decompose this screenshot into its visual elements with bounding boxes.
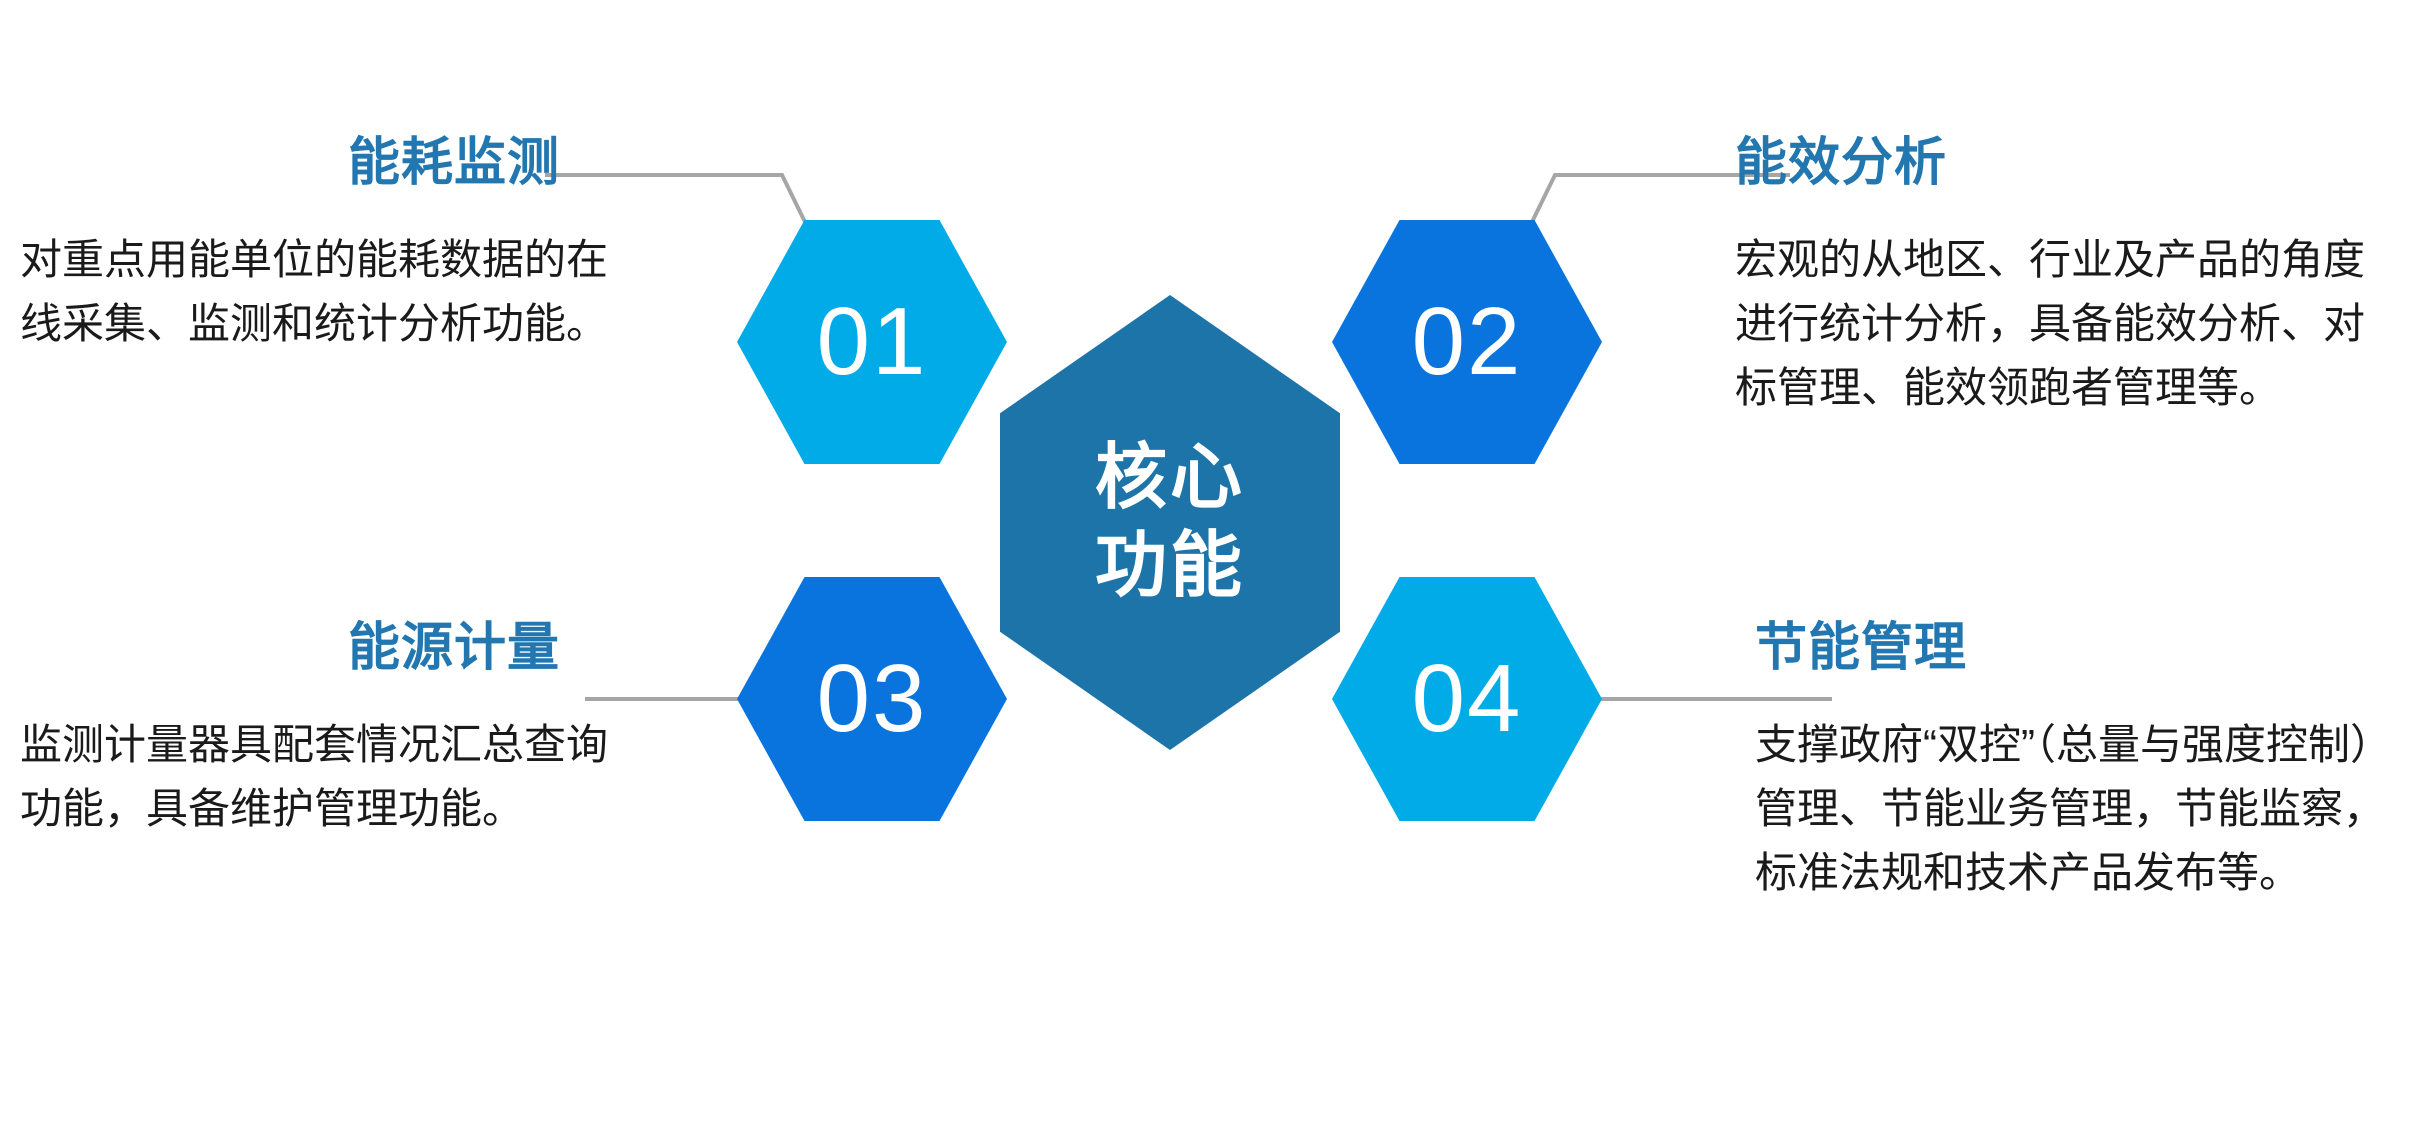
block-title-03: 能源计量 — [20, 620, 660, 677]
text-block-02: 能效分析 宏观的从地区、行业及产品的角度进行统计分析，具备能效分析、对标管理、能… — [1735, 135, 2395, 420]
hexagon-01[interactable]: 01 — [737, 220, 1007, 464]
block-body-03: 监测计量器具配套情况汇总查询功能，具备维护管理功能。 — [20, 713, 640, 841]
hexagon-02[interactable]: 02 — [1332, 220, 1602, 464]
block-body-01: 对重点用能单位的能耗数据的在线采集、监测和统计分析功能。 — [20, 228, 640, 356]
hexagon-04[interactable]: 04 — [1332, 577, 1602, 821]
block-body-02: 宏观的从地区、行业及产品的角度进行统计分析，具备能效分析、对标管理、能效领跑者管… — [1735, 228, 2385, 419]
hexagon-number-04: 04 — [1412, 651, 1523, 747]
center-label-line1: 核心 — [1095, 435, 1245, 523]
text-block-03: 能源计量 监测计量器具配套情况汇总查询功能，具备维护管理功能。 — [20, 620, 660, 841]
hexagon-number-02: 02 — [1412, 294, 1523, 390]
block-title-01: 能耗监测 — [20, 135, 660, 192]
infographic-canvas: 01 02 03 04 核心 功能 能耗监测 对重点用能单位的能耗数据的在线采集… — [0, 0, 2418, 1121]
center-label-line2: 功能 — [1095, 523, 1245, 611]
text-block-04: 节能管理 支撑政府“双控”（总量与强度控制）管理、节能业务管理，节能监察，标准法… — [1735, 620, 2395, 905]
text-block-01: 能耗监测 对重点用能单位的能耗数据的在线采集、监测和统计分析功能。 — [20, 135, 660, 356]
block-title-02: 能效分析 — [1735, 135, 2395, 192]
block-body-04: 支撑政府“双控”（总量与强度控制）管理、节能业务管理，节能监察，标准法规和技术产… — [1735, 713, 2405, 904]
hexagon-number-01: 01 — [817, 294, 928, 390]
hexagon-03[interactable]: 03 — [737, 577, 1007, 821]
center-hexagon[interactable]: 核心 功能 — [1000, 295, 1340, 750]
block-title-04: 节能管理 — [1735, 620, 2395, 677]
hexagon-number-03: 03 — [817, 651, 928, 747]
